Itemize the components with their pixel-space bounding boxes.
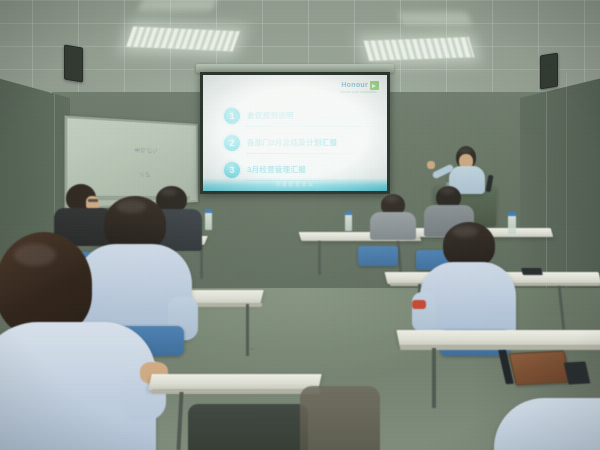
mobile-phone (564, 361, 591, 384)
slide-agenda-list: 1 会议规划说明 2 各部门3月总结及计划汇报 3 3月经营管理汇报 (224, 102, 375, 183)
seated-legs (188, 404, 308, 450)
desk-edge (151, 389, 320, 394)
slide-logo: Honour (341, 81, 379, 90)
agenda-number-badge: 2 (224, 135, 240, 151)
whiteboard-mark-2: 议题 (139, 171, 151, 179)
desk-leg (246, 304, 249, 356)
wall-speaker-left (64, 44, 83, 82)
agenda-row-text: 3月经营管理汇报 (247, 164, 306, 175)
presenter-hair-highlight (458, 147, 472, 154)
glasses-icon (88, 199, 98, 202)
water-bottle (508, 215, 516, 234)
attendee-hair-highlight (14, 244, 56, 266)
ceiling-light-glow-right (398, 12, 472, 25)
mobile-phone (521, 268, 543, 275)
attendee-arm (412, 292, 436, 332)
desk (148, 374, 321, 390)
desk (396, 330, 600, 346)
floor-mark (250, 348, 255, 350)
ceiling-light-panel-right (362, 36, 475, 62)
wall-speaker-right (540, 53, 558, 90)
slide-logo-text: Honour (341, 82, 368, 89)
ceiling-light-panel-left (125, 26, 241, 53)
seated-legs (300, 386, 380, 450)
desk-leg (318, 241, 321, 275)
water-bottle (345, 214, 352, 231)
attendee-hair-highlight (452, 226, 478, 237)
water-bottle (205, 212, 212, 230)
bottle-cap (345, 211, 352, 215)
wall-corner-right (546, 92, 547, 300)
agenda-number-badge: 3 (224, 162, 240, 178)
slide-footer-band: 月度经营会议 (203, 178, 387, 191)
slide-agenda-row: 2 各部门3月总结及计划汇报 (224, 129, 375, 156)
attendee-hair-highlight (384, 195, 399, 202)
agenda-row-rule (246, 126, 375, 127)
desk-leg (432, 348, 436, 408)
attendee-hair-highlight (160, 188, 177, 196)
wall-corner-right-outer (566, 72, 567, 298)
ceiling-light-glow-left (137, 0, 217, 11)
agenda-row-text: 会议规划说明 (247, 110, 294, 121)
attendee-hair-highlight (440, 187, 455, 194)
slide-footer-text: 月度经营会议 (275, 181, 314, 188)
meeting-room-photo: 会议记录 议题 Honour honour your inspiration 1… (0, 0, 600, 450)
agenda-number-badge: 1 (224, 108, 240, 124)
logo-mark-icon (370, 81, 379, 90)
chair (358, 246, 398, 266)
slide-logo-tagline: honour your inspiration (340, 90, 377, 94)
agenda-row-rule (246, 153, 375, 154)
attendee-torso (370, 212, 416, 240)
bottle-cap (205, 209, 212, 213)
presenter-hand (427, 161, 435, 169)
held-object (412, 300, 426, 309)
bottle-cap (508, 212, 516, 216)
whiteboard-mark-1: 会议记录 (135, 146, 158, 154)
agenda-row-text: 各部门3月总结及计划汇报 (247, 137, 337, 148)
projection-screen: Honour honour your inspiration 1 会议规划说明 … (200, 72, 390, 194)
notebook (509, 351, 572, 386)
attendee-hair-highlight (116, 200, 146, 213)
slide-agenda-row: 1 会议规划说明 (224, 102, 375, 129)
presentation-slide: Honour honour your inspiration 1 会议规划说明 … (203, 75, 387, 191)
